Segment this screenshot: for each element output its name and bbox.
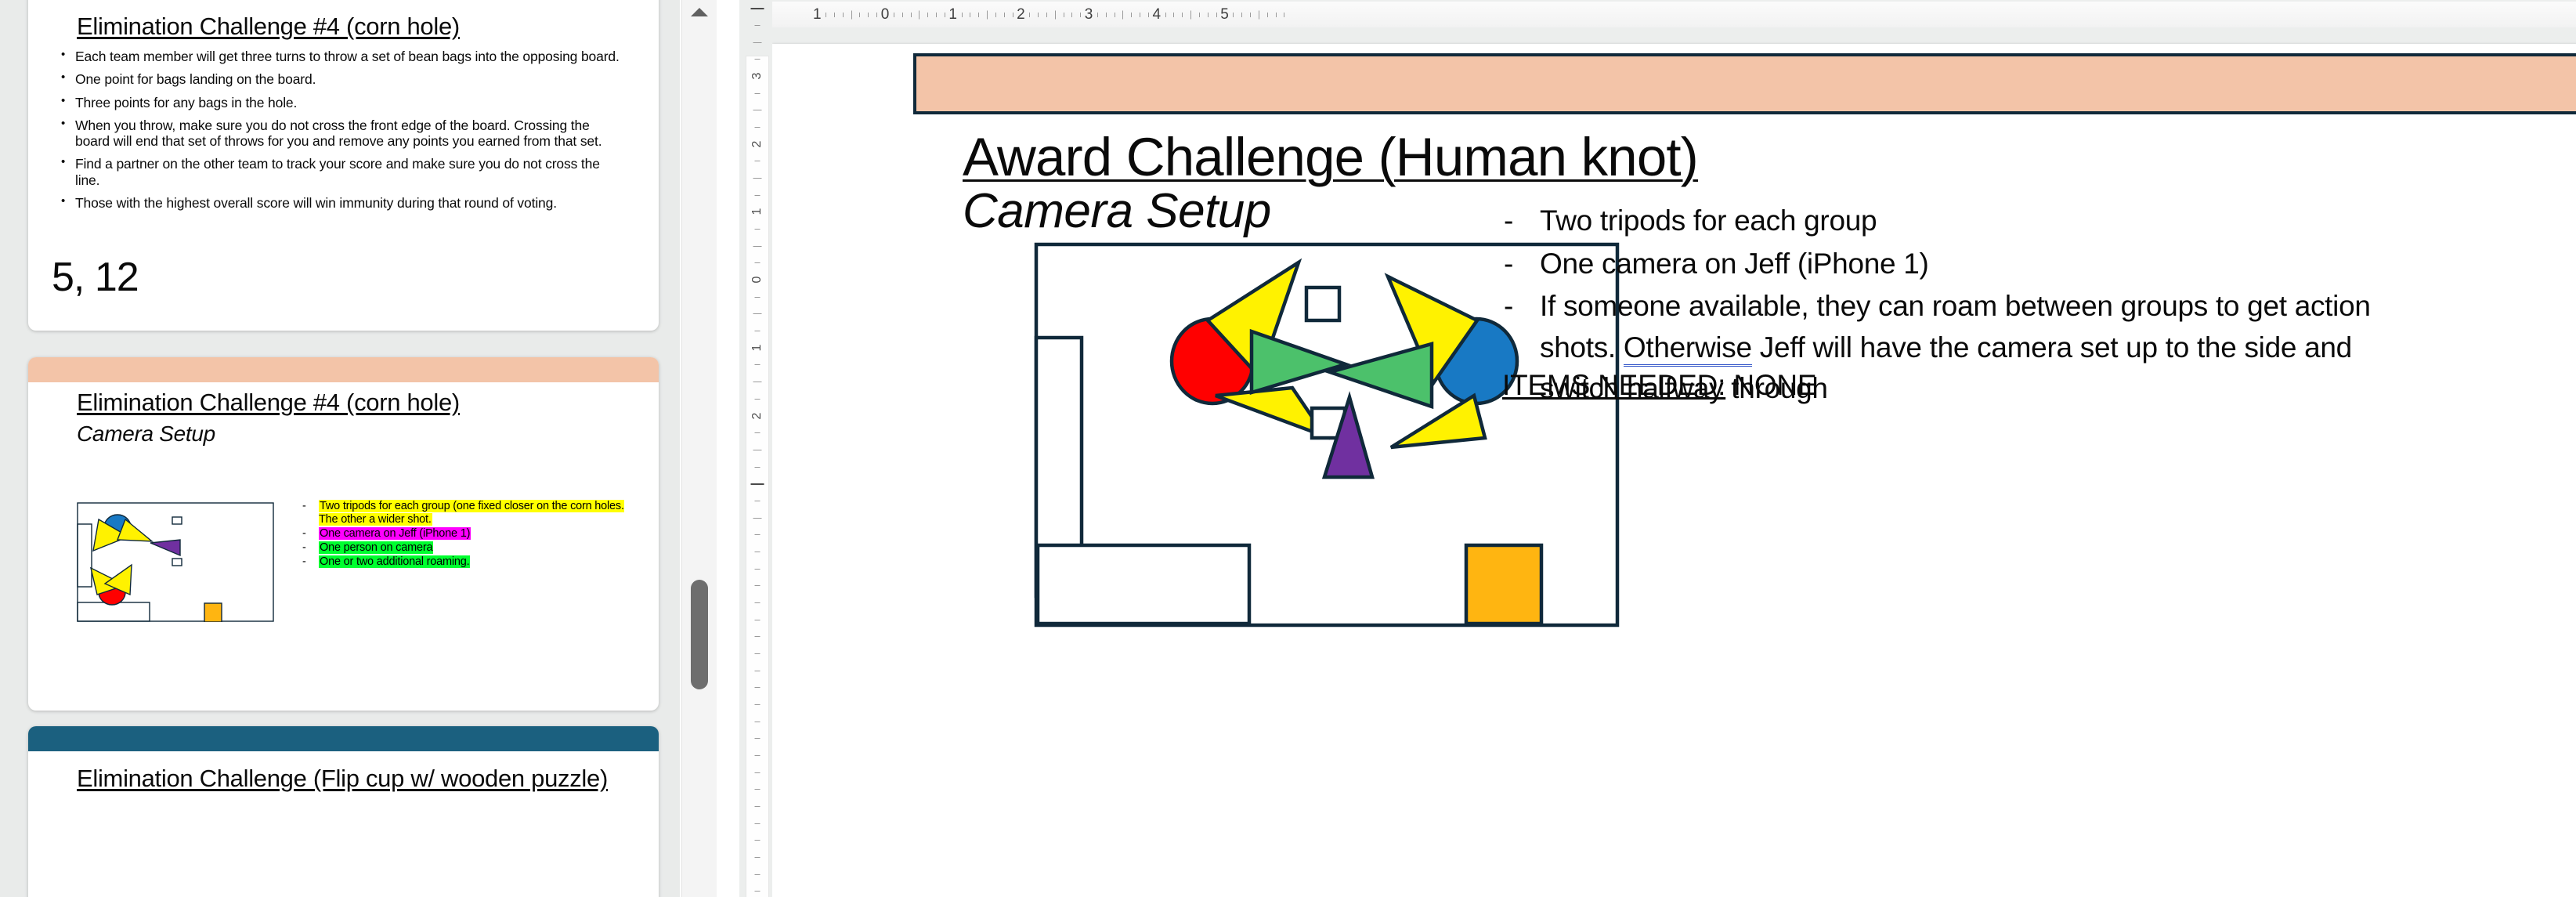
list-item: Three points for any bags in the hole. [58,95,622,110]
ruler-tick [755,569,761,570]
ruler-tick [1140,13,1140,17]
note-text: One person on camera [319,541,433,554]
ruler-tick [755,585,761,586]
items-needed-label: ITEMS NEEDED: [1502,369,1725,401]
ruler-tick [755,620,761,620]
ruler-tick [995,13,996,17]
vertical-ruler: 321012 [739,0,772,897]
ruler-tick [1148,13,1149,17]
ruler-tick [987,10,988,19]
dash-marker: - [302,527,306,541]
list-item: Find a partner on the other team to trac… [58,156,622,188]
ruler-tick [902,13,903,17]
scroll-up-arrow-icon[interactable] [682,2,717,22]
thumbnail-3-title: Elimination Challenge (Flip cup w/ woode… [77,764,625,794]
ruler-tick [1131,13,1132,17]
items-needed-line[interactable]: ITEMS NEEDED: NONE [1502,369,1816,402]
ruler-tick [1241,13,1242,17]
dash-marker: - [1504,286,1513,327]
ruler-tick [834,13,835,17]
ruler-tick [1080,13,1081,17]
ruler-tick [1071,13,1072,17]
thumbnail-1-title: Elimination Challenge #4 (corn hole) [77,13,625,41]
thumbnail-2-subtitle: Camera Setup [77,421,215,447]
ruler-tick [755,806,761,807]
ruler-tick [753,518,762,519]
scrollbar-thumb[interactable] [691,580,708,689]
ruler-tick [753,110,762,110]
ruler-label-v-2: 1 [750,208,764,215]
ruler-tick [919,10,919,19]
presentation-editor-window: Elimination Challenge #4 (corn hole) Eac… [0,0,2576,897]
dash-marker: - [1504,244,1513,285]
current-slide[interactable]: Award Challenge (Human knot) Camera Setu… [772,44,2576,897]
ruler-tick [755,789,761,790]
ruler-tick [1106,13,1107,17]
ruler-tick [1233,13,1234,17]
ruler-tick [753,313,762,314]
slide-canvas[interactable]: Award Challenge (Human knot) Camera Setu… [772,31,2576,897]
ruler-tick [1013,13,1013,17]
ruler-tick [970,13,970,17]
slide-header-banner[interactable] [913,53,2576,114]
ruler-tick [894,13,894,17]
ruler-tick [755,59,761,60]
ruler-tick [962,13,963,17]
ruler-label-v-1: 2 [750,141,764,148]
ruler-tick [755,127,761,128]
ruler-tick [1208,13,1209,17]
thumbnail-3-header-bar [28,726,659,751]
ruler-tick [1038,13,1039,17]
ruler-tick [755,687,761,688]
ruler-tick [755,195,761,196]
note-line: -One person on camera [298,541,627,555]
slide-thumbnail-1[interactable]: Elimination Challenge #4 (corn hole) Eac… [28,0,659,331]
ruler-tick [755,364,761,365]
note-line: -Two tripods for each group (one fixed c… [298,500,627,526]
note-line: -One camera on Jeff (iPhone 1) [298,527,627,541]
dash-marker: - [302,500,306,513]
ruler-tick [755,602,761,603]
dash-marker: - [1504,201,1513,242]
ruler-tick [1173,13,1174,17]
ruler-tick [1284,13,1284,17]
ruler-tick [755,161,761,161]
dash-marker: - [302,541,306,555]
ruler-label-h-10: 4 [1153,6,1162,24]
vertical-ruler-strip: 321012 [746,56,768,897]
list-item: When you throw, make sure you do not cro… [58,118,622,150]
ruler-tick [1267,13,1268,17]
ruler-tick [1097,13,1098,17]
small-square-top [1306,288,1339,320]
ruler-label-h-11: 5 [1220,6,1229,24]
ruler-tick [755,501,761,501]
ruler-tick [868,13,869,17]
ruler-tick [1190,10,1191,19]
horizontal-ruler-strip: 1012345 [772,2,2576,27]
ruler-tick [755,636,761,637]
thumbnail-2-title: Elimination Challenge #4 (corn hole) [77,389,625,417]
ruler-label-h-6: 0 [881,6,890,24]
ruler-tick [755,772,761,773]
ruler-tick [1250,13,1251,17]
slide-bullet-2[interactable]: -One camera on Jeff (iPhone 1) [1493,244,2433,285]
ruler-tick [1276,13,1277,17]
slide-bullet-1[interactable]: -Two tripods for each group [1493,201,2433,242]
orange-block [1466,545,1541,624]
ruler-tick [755,840,761,841]
ruler-tick [755,297,761,298]
ruler-tick [755,93,761,94]
ruler-tick [753,382,762,382]
slide-subtitle[interactable]: Camera Setup [963,183,1271,239]
grammar-flagged-word[interactable]: Otherwise [1624,331,1752,367]
ruler-label-v-4: 1 [750,345,764,352]
ruler-tick [1122,10,1123,19]
ruler-tick [755,331,761,331]
ruler-tick [851,10,852,19]
list-item: One point for bags landing on the board. [58,71,622,87]
list-item: Each team member will get three turns to… [58,49,622,64]
ruler-tick [753,42,762,43]
ruler-tick [1259,10,1259,19]
slide-thumbnail-3[interactable]: Elimination Challenge (Flip cup w/ woode… [28,726,659,897]
ruler-tick [755,653,761,654]
ruler-tick [753,450,762,450]
ruler-tick [843,13,844,17]
thumbnail-1-footer-number: 5, 12 [52,254,139,301]
ruler-label-h-8: 2 [1017,6,1025,24]
ruler-tick [927,13,928,17]
ruler-tick [755,262,761,263]
ruler-tick [755,704,761,705]
ruler-tick [1029,13,1030,17]
ruler-tick [753,246,762,247]
items-needed-value: NONE [1733,369,1816,401]
ruler-tick [1064,13,1064,17]
ruler-tick [755,755,761,756]
ruler-label-v-3: 0 [750,277,764,284]
bullet-text: One camera on Jeff (iPhone 1) [1540,248,1929,280]
ruler-tick [755,857,761,858]
ruler-tick [753,178,762,179]
ruler-tick [755,874,761,875]
ruler-tick [755,25,761,26]
ruler-tick [936,13,937,17]
ruler-tick [859,13,860,17]
thumbnail-2-notes: -Two tripods for each group (one fixed c… [298,500,627,570]
ruler-label-h-9: 3 [1085,6,1093,24]
dash-marker: - [302,555,306,569]
ruler-tick [876,13,877,17]
slide-thumbnail-2[interactable]: Elimination Challenge #4 (corn hole) Cam… [28,357,659,711]
ruler-tick [755,738,761,739]
note-line: -One or two additional roaming. [298,555,627,569]
ruler-tick [755,671,761,671]
ruler-tick [1004,13,1005,17]
ruler-tick [911,13,912,17]
note-text: Two tripods for each group (one fixed cl… [319,500,624,526]
ruler-tick [1165,13,1166,17]
ruler-tick [755,229,761,230]
bottom-left-table [1038,545,1249,624]
ruler-tick [1115,13,1115,17]
list-item: Those with the highest overall score wil… [58,195,622,211]
note-text: One or two additional roaming. [319,555,470,568]
ruler-tick [755,823,761,824]
ruler-tick [1182,13,1183,17]
ruler-tick [1046,13,1047,17]
slide-thumbnail-pane[interactable]: Elimination Challenge #4 (corn hole) Eac… [0,0,680,897]
ruler-label-h-5: 1 [813,6,822,24]
ruler-tick [755,552,761,552]
thumbnail-2-diagram [77,502,274,622]
ruler-tick [978,13,979,17]
ruler-tick [755,467,761,468]
ruler-tick [755,534,761,535]
ruler-label-h-7: 1 [948,6,957,24]
bullet-text: Two tripods for each group [1540,204,1877,237]
thumbnail-2-header-bar [28,357,659,382]
ruler-label-v-5: 2 [750,413,764,420]
ruler-tick [755,432,761,433]
thumbnail-1-bullet-list: Each team member will get three turns to… [58,49,622,218]
ruler-label-v-0: 3 [750,73,764,80]
slide-title[interactable]: Award Challenge (Human knot) [963,126,1698,188]
ruler-tick [755,891,761,892]
ruler-tick [826,13,826,17]
ruler-tick [751,483,764,485]
ruler-tick [945,13,945,17]
ruler-tick [755,722,761,722]
thumbnail-pane-scrollbar[interactable] [681,0,717,897]
ruler-tick [751,8,764,9]
note-text: One camera on Jeff (iPhone 1) [319,527,471,540]
ruler-tick [1055,10,1056,19]
horizontal-ruler: 1012345 [772,0,2576,31]
ruler-tick [755,399,761,400]
ruler-tick [1216,13,1217,17]
ruler-tick [1199,13,1200,17]
